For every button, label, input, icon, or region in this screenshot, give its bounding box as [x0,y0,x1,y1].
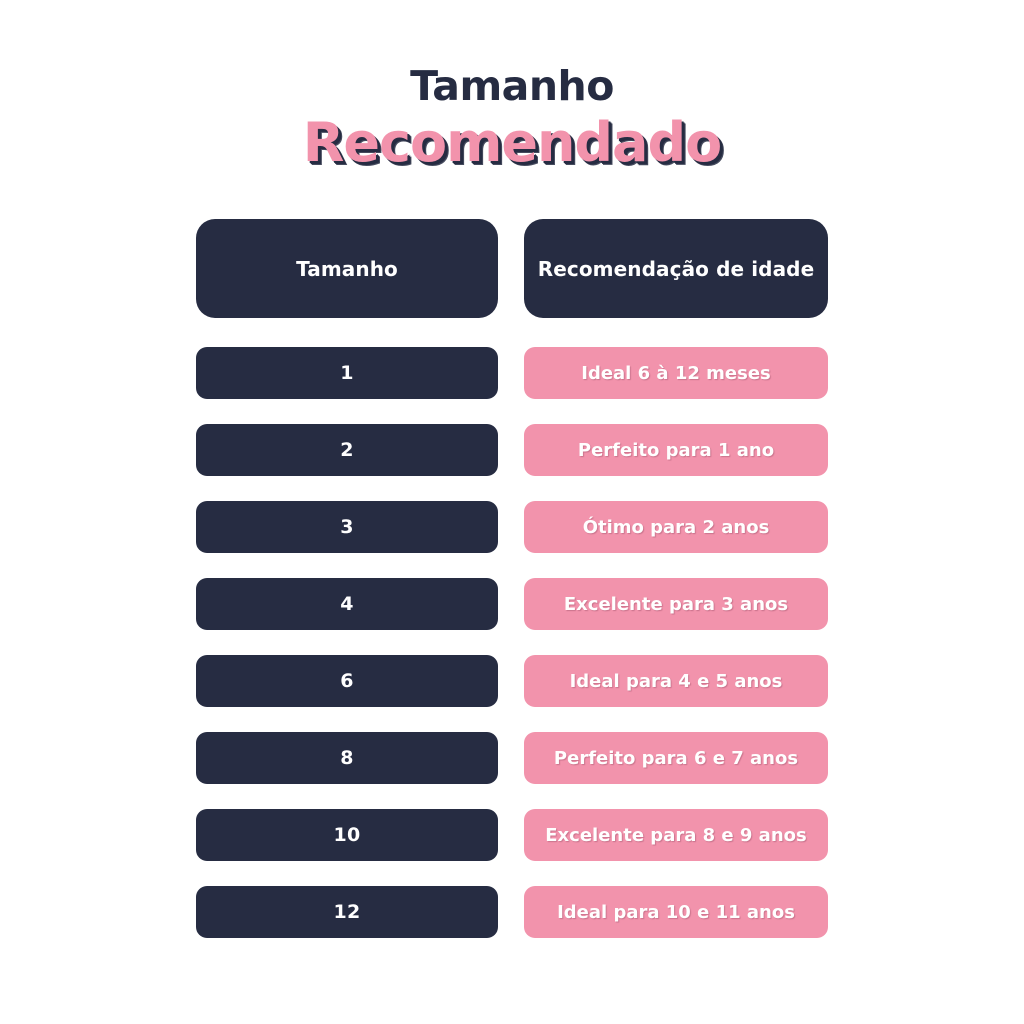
size-value: 4 [340,593,354,615]
cell-recommendation: Ideal 6 à 12 meses [524,347,828,399]
header-label-size: Tamanho [296,257,398,281]
size-value: 1 [340,362,354,384]
size-value: 8 [340,747,354,769]
recommendation-value: Ideal para 4 e 5 anos [570,671,783,692]
cell-recommendation: Perfeito para 6 e 7 anos [524,732,828,784]
cell-size: 6 [196,655,498,707]
table-row: 8 Perfeito para 6 e 7 anos [196,732,828,784]
cell-size: 4 [196,578,498,630]
header-label-recommendation: Recomendação de idade [538,257,815,281]
cell-recommendation: Perfeito para 1 ano [524,424,828,476]
table-row: 3 Ótimo para 2 anos [196,501,828,553]
size-value: 2 [340,439,354,461]
size-value: 12 [333,901,360,923]
recommendation-value: Perfeito para 1 ano [578,440,774,461]
cell-recommendation: Ótimo para 2 anos [524,501,828,553]
cell-size: 2 [196,424,498,476]
recommendation-value: Excelente para 3 anos [564,594,788,615]
cell-size: 3 [196,501,498,553]
header-cell-recommendation: Recomendação de idade [524,219,828,318]
recommendation-value: Excelente para 8 e 9 anos [545,825,806,846]
size-value: 3 [340,516,354,538]
cell-size: 10 [196,809,498,861]
size-chart-page: Tamanho Recomendado Tamanho Recomendação… [0,0,1024,1024]
table-header-row: Tamanho Recomendação de idade [196,219,828,318]
cell-size: 12 [196,886,498,938]
cell-recommendation: Excelente para 3 anos [524,578,828,630]
table-row: 12 Ideal para 10 e 11 anos [196,886,828,938]
cell-recommendation: Ideal para 4 e 5 anos [524,655,828,707]
cell-size: 1 [196,347,498,399]
recommendation-value: Ideal 6 à 12 meses [581,363,771,384]
table-row: 4 Excelente para 3 anos [196,578,828,630]
title-line-recomendado: Recomendado [0,115,1024,172]
size-recommendation-table: Tamanho Recomendação de idade 1 Ideal 6 … [196,219,828,938]
table-row: 1 Ideal 6 à 12 meses [196,347,828,399]
size-value: 10 [333,824,360,846]
recommendation-value: Perfeito para 6 e 7 anos [554,748,798,769]
cell-recommendation: Excelente para 8 e 9 anos [524,809,828,861]
header-cell-size: Tamanho [196,219,498,318]
cell-recommendation: Ideal para 10 e 11 anos [524,886,828,938]
cell-size: 8 [196,732,498,784]
table-row: 6 Ideal para 4 e 5 anos [196,655,828,707]
table-row: 10 Excelente para 8 e 9 anos [196,809,828,861]
page-title: Tamanho Recomendado [0,66,1024,172]
size-value: 6 [340,670,354,692]
title-line-tamanho: Tamanho [0,66,1024,107]
table-row: 2 Perfeito para 1 ano [196,424,828,476]
recommendation-value: Ideal para 10 e 11 anos [557,902,795,923]
recommendation-value: Ótimo para 2 anos [583,517,770,538]
